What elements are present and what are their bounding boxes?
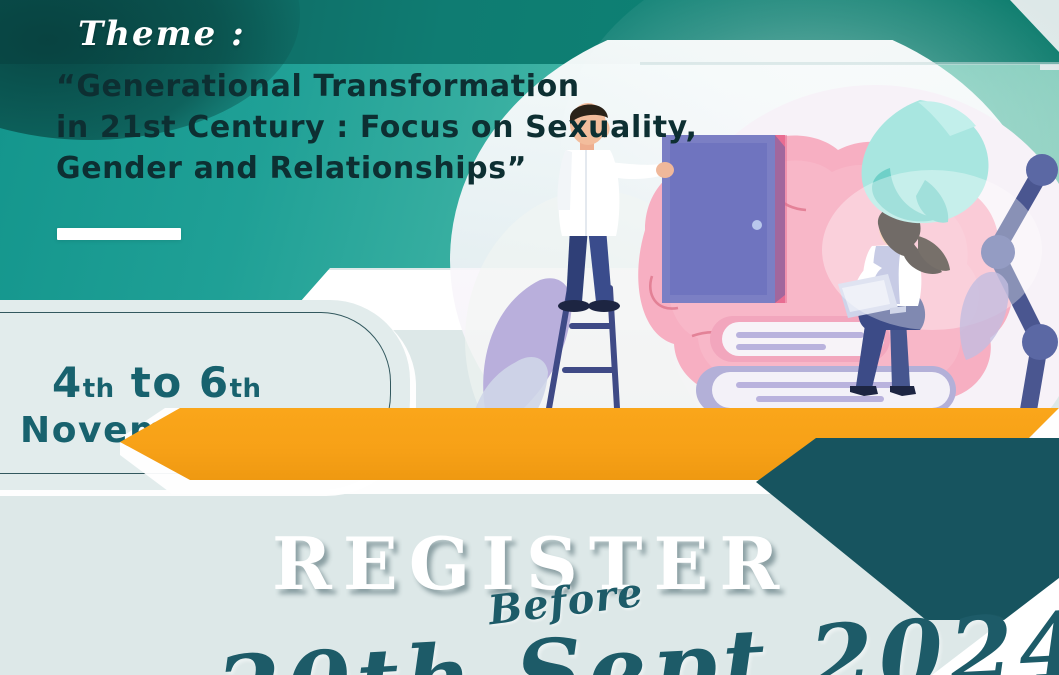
date-day-end: 6 (199, 358, 230, 407)
theme-underline-rule (57, 228, 181, 240)
date-day-start-suffix: th (83, 374, 115, 404)
date-day-end-suffix: th (230, 374, 262, 404)
poster-canvas: Theme : “Generational Transformation in … (0, 0, 1059, 675)
date-range: 4th to 6th (52, 362, 262, 404)
theme-label: Theme : (78, 14, 246, 54)
ribbon-edge-divider (640, 62, 1059, 65)
date-day-start: 4 (52, 358, 83, 407)
date-joiner: to (115, 358, 199, 407)
theme-title: “Generational Transformation in 21st Cen… (56, 66, 776, 189)
